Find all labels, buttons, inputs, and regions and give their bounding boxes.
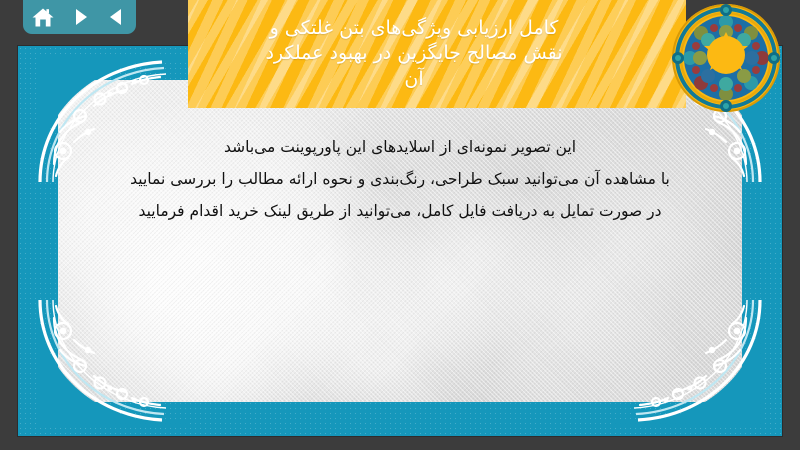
slide-viewer: این تصویر نمونه‌ای از اسلایدهای این پاور… <box>0 0 800 450</box>
slide-navigation-bar <box>23 0 136 34</box>
slide-title-banner: کامل ارزیابی ویژگی‌های بتن غلتکی و نقش م… <box>188 0 748 108</box>
home-button[interactable] <box>31 5 55 29</box>
slide-body-text: این تصویر نمونه‌ای از اسلایدهای این پاور… <box>78 132 722 229</box>
banner-body: کامل ارزیابی ویژگی‌های بتن غلتکی و نقش م… <box>188 0 686 108</box>
previous-slide-button[interactable] <box>105 5 129 29</box>
next-slide-button[interactable] <box>68 5 92 29</box>
title-line-2: نقش مصالح جایگزین در بهبود عملکرد <box>265 41 562 66</box>
title-line-1: کامل ارزیابی ویژگی‌های بتن غلتکی و <box>265 16 562 41</box>
page-title: کامل ارزیابی ویژگی‌های بتن غلتکی و نقش م… <box>265 16 562 91</box>
body-line-3: در صورت تمایل به دریافت فایل کامل، می‌تو… <box>78 196 722 226</box>
persian-mandala-medallion <box>670 2 782 114</box>
title-line-3: آن <box>265 67 562 92</box>
triangle-left-icon <box>106 6 128 28</box>
body-line-1: این تصویر نمونه‌ای از اسلایدهای این پاور… <box>78 132 722 162</box>
body-line-2: با مشاهده آن می‌توانید سبک طراحی، رنگ‌بن… <box>78 164 722 194</box>
home-icon <box>31 6 55 29</box>
triangle-right-icon <box>69 6 91 28</box>
slide-content-panel <box>58 80 742 402</box>
